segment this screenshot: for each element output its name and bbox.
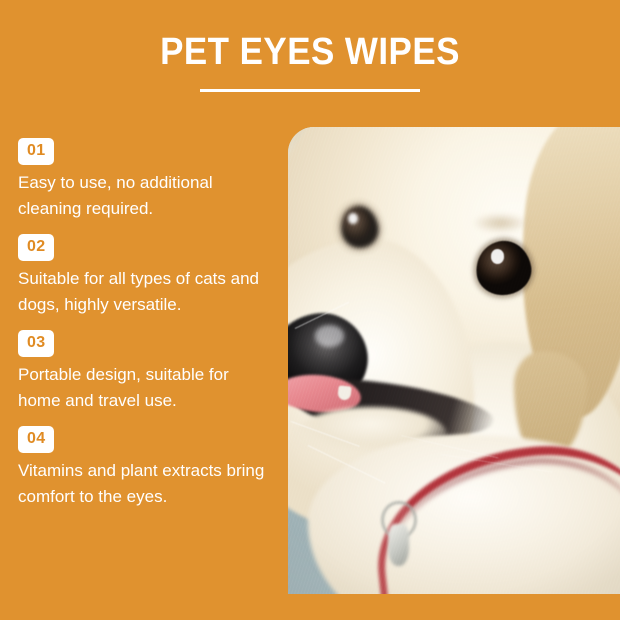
photo-vignette: [288, 127, 620, 594]
feature-list: 01 Easy to use, no additional cleaning r…: [18, 138, 274, 510]
feature-description: Suitable for all types of cats and dogs,…: [18, 266, 270, 318]
feature-description: Easy to use, no additional cleaning requ…: [18, 170, 270, 222]
feature-number-badge: 01: [18, 138, 54, 165]
product-feature-poster: PET EYES WIPES 01 Easy to use, no additi…: [0, 0, 620, 620]
list-item: 04 Vitamins and plant extracts bring com…: [18, 426, 274, 510]
list-item: 02 Suitable for all types of cats and do…: [18, 234, 274, 318]
list-item: 03 Portable design, suitable for home an…: [18, 330, 274, 414]
product-photo: [288, 127, 620, 594]
feature-description: Portable design, suitable for home and t…: [18, 362, 270, 414]
feature-description: Vitamins and plant extracts bring comfor…: [18, 458, 270, 510]
photo-stage: [288, 127, 620, 594]
list-item: 01 Easy to use, no additional cleaning r…: [18, 138, 274, 222]
poster-header: PET EYES WIPES: [0, 0, 620, 122]
title-divider: [200, 89, 420, 92]
feature-number-badge: 04: [18, 426, 54, 453]
feature-number-badge: 03: [18, 330, 54, 357]
feature-number-badge: 02: [18, 234, 54, 261]
page-title: PET EYES WIPES: [25, 30, 595, 74]
